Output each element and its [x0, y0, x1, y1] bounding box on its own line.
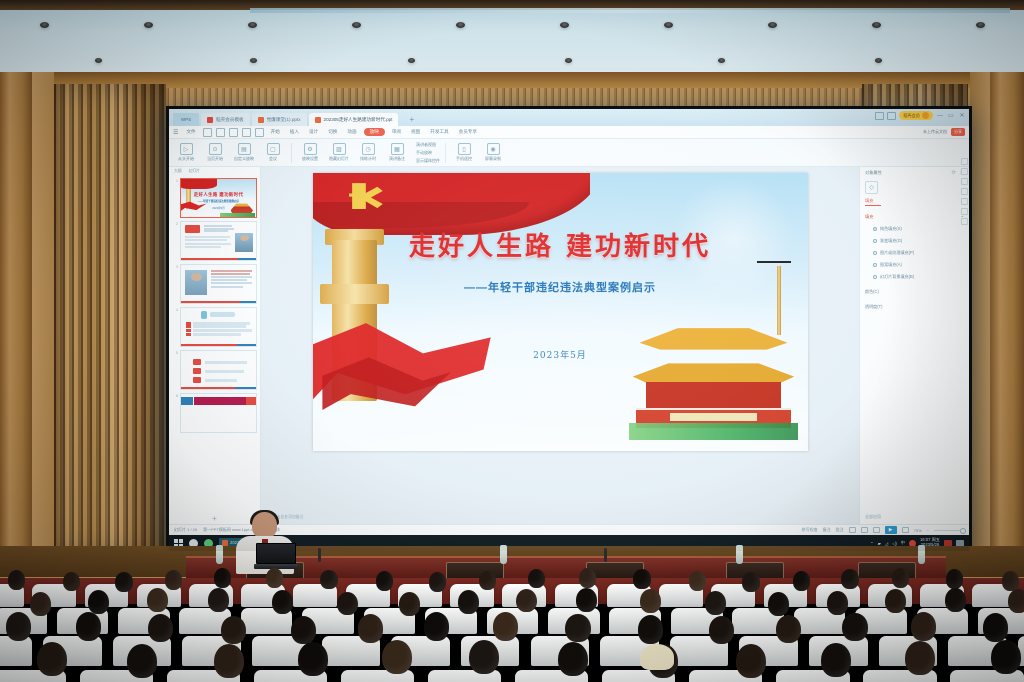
- minimize-button[interactable]: —: [936, 113, 944, 119]
- doc-tab-1[interactable]: 党廉课堂(1).pptx: [252, 113, 307, 126]
- audience-member: [742, 572, 759, 592]
- reading-view-icon[interactable]: [873, 527, 880, 533]
- tab-outline[interactable]: 大纲: [174, 169, 182, 174]
- workspace: 大纲 幻灯片 1走好人生路 建功新时代——年轻干部违纪违法典型案例启示2023年…: [169, 167, 969, 524]
- audience-member: [885, 589, 906, 613]
- ribbon-button-label: 手机遥控: [456, 156, 472, 162]
- slide-sorter-icon[interactable]: [861, 527, 868, 533]
- rail-icon-more[interactable]: [961, 218, 968, 225]
- play-from-start-icon: ▷: [180, 143, 193, 155]
- projection-screen: WPS 稻壳会员模板 党廉课堂(1).pptx 202305走好人生路建功新时代…: [166, 106, 972, 554]
- audience-member: [709, 616, 734, 645]
- zoom-slider[interactable]: [934, 530, 964, 531]
- audience-member: [115, 572, 132, 592]
- slide-editing-area[interactable]: 走好人生路 建功新时代 ——年轻干部违纪违法典型案例启示 2023年5月 单击此…: [261, 167, 859, 524]
- wall-pilaster-left-inner: [32, 72, 54, 572]
- fill-option-label: 图片或纹理填充(P): [880, 250, 914, 256]
- ribbon-tab-1[interactable]: 插入: [287, 128, 302, 136]
- ribbon-button-label: 从头开始: [178, 156, 194, 162]
- ceiling-downlight: [976, 22, 985, 28]
- zoom-level[interactable]: 79%: [914, 528, 922, 533]
- slide-thumbnail-list[interactable]: 1走好人生路 建功新时代——年轻干部违纪违法典型案例启示2023年5月23456: [169, 176, 260, 513]
- custom-show-icon: ▤: [238, 143, 251, 155]
- audience-member: [76, 612, 101, 641]
- ribbon-tab-7[interactable]: 视图: [408, 128, 423, 136]
- laptop-screen: [256, 543, 296, 564]
- audience-member: [689, 571, 706, 591]
- ceiling-downlight: [872, 22, 881, 28]
- audience-member: [776, 615, 801, 644]
- audience-member: [841, 569, 858, 589]
- radio-icon: [873, 251, 877, 255]
- ppt-icon: [258, 117, 264, 123]
- audience-member: [821, 643, 851, 677]
- speaker-notes-icon: ▦: [391, 143, 404, 155]
- doc-tab-2[interactable]: 202305走好人生路建功新时代.ppt: [309, 113, 399, 126]
- radio-icon: [873, 275, 877, 279]
- audience-member: [272, 590, 293, 614]
- slide-thumbnail-number: 6: [172, 393, 178, 398]
- wps-doc-icon: [207, 117, 213, 123]
- rail-icon-image[interactable]: [961, 178, 968, 185]
- ceiling-downlight: [664, 22, 673, 28]
- network-icon[interactable]: ◿: [885, 541, 888, 546]
- ribbon-button-0[interactable]: ▷ 从头开始: [173, 143, 199, 162]
- audience-member: [320, 570, 337, 590]
- wall-pilaster-right-inner: [970, 72, 990, 572]
- redo-icon[interactable]: [255, 128, 264, 137]
- comments-button[interactable]: 批注: [836, 527, 844, 533]
- audience-member: [793, 571, 810, 591]
- ribbon-button-6[interactable]: ◷ 排练计时: [355, 143, 381, 162]
- audience-member: [911, 612, 936, 641]
- ribbon-tab-0[interactable]: 开始: [268, 128, 283, 136]
- audience-member: [214, 644, 244, 678]
- audience-member: [424, 612, 449, 641]
- audience-member: [945, 588, 966, 612]
- audience-member: [705, 591, 726, 615]
- close-button[interactable]: ✕: [958, 112, 966, 119]
- ribbon-tab-bar: ☰ 文件 开始 插入 设计 切换 动画 放映 审阅 视图 开发工具 会: [169, 126, 969, 139]
- doc-tab-label: 党廉课堂(1).pptx: [267, 117, 301, 123]
- ceiling-downlight: [560, 22, 569, 28]
- fill-option-0[interactable]: 纯色填充(S): [865, 226, 964, 232]
- doc-tab-label: 202305走好人生路建功新时代.ppt: [324, 117, 393, 123]
- file-menu[interactable]: 文件: [183, 128, 198, 136]
- ceiling-downlight: [144, 22, 153, 28]
- radio-icon: [873, 227, 877, 231]
- audience-member: [88, 590, 109, 614]
- slide-thumbnail-number: 4: [172, 307, 178, 312]
- audience-member: [469, 640, 499, 674]
- ribbon-button-label: 会议: [269, 156, 277, 162]
- layout-toggle-icon[interactable]: [875, 112, 884, 120]
- audience-member: [165, 570, 182, 590]
- fill-option-label: 纯色填充(S): [880, 226, 902, 232]
- slide-thumbnail-preview[interactable]: 走好人生路 建功新时代——年轻干部违纪违法典型案例启示2023年5月: [180, 178, 257, 218]
- refresh-icon[interactable]: ⟳: [952, 170, 956, 176]
- ribbon-tab-3[interactable]: 切换: [325, 128, 340, 136]
- color-row[interactable]: 颜色(C): [865, 289, 964, 295]
- ribbon-check-group: 演讲者视图 手动放映 显示媒体控件: [416, 142, 440, 164]
- normal-view-icon[interactable]: [849, 527, 856, 533]
- audience-member: [214, 568, 231, 588]
- ceiling-downlight: [40, 22, 49, 28]
- notes-button[interactable]: 备注: [823, 527, 831, 533]
- audience-member: [221, 616, 246, 645]
- fill-section-label: 填充: [865, 214, 873, 220]
- audience-member: [842, 613, 867, 642]
- audience-member: [736, 644, 766, 678]
- audience-member: [37, 642, 67, 676]
- ribbon-toolbar: ▷ 从头开始 ⊙ 当页开始 ▤ 自定义放映 ▢ 会议: [169, 139, 969, 167]
- menu-hamburger-icon[interactable]: ☰: [173, 129, 178, 136]
- fill-option-4[interactable]: 幻灯片背景填充(B): [865, 274, 964, 280]
- play-current-icon: ⊙: [209, 143, 222, 155]
- wall-pilaster-right: [990, 72, 1024, 572]
- ceiling-downlight: [875, 58, 882, 63]
- ceiling-downlight: [456, 22, 465, 28]
- ribbon-separator: [291, 143, 292, 163]
- ribbon-tab-6[interactable]: 审阅: [389, 128, 404, 136]
- current-slide[interactable]: 走好人生路 建功新时代 ——年轻干部违纪违法典型案例启示 2023年5月: [313, 173, 808, 451]
- slide-thumbnail-preview[interactable]: [180, 350, 257, 390]
- ribbon-button-screen-record[interactable]: ◉ 屏幕录制: [480, 143, 506, 162]
- audience-member: [1002, 571, 1019, 591]
- slide-thumbnail-preview[interactable]: [180, 221, 257, 261]
- ribbon-button-4[interactable]: ⚙ 放映设置: [297, 143, 323, 162]
- tray-chevron-icon[interactable]: ⌃: [870, 541, 874, 546]
- projected-image: WPS 稻壳会员模板 党廉课堂(1).pptx 202305走好人生路建功新时代…: [169, 109, 969, 551]
- radio-icon: [873, 263, 877, 267]
- ribbon-button-2[interactable]: ▤ 自定义放映: [231, 143, 257, 162]
- ribbon-tab-8[interactable]: 开发工具: [427, 128, 451, 136]
- ribbon-button-label: 演讲备注: [389, 156, 405, 162]
- wps-logo: WPS: [173, 113, 199, 126]
- ppt-icon: [315, 117, 321, 123]
- ceiling-downlight: [95, 58, 102, 63]
- audience-member: [827, 591, 848, 615]
- grid-view-icon[interactable]: [887, 112, 896, 120]
- audience-member: [8, 570, 25, 590]
- show-settings-icon: ⚙: [304, 143, 317, 155]
- gate-lower-roof: [633, 359, 795, 384]
- audience-member: [266, 568, 283, 588]
- gate-upper-roof: [639, 325, 787, 350]
- fill-tab[interactable]: 填充: [865, 198, 881, 206]
- audience-member: [63, 572, 80, 592]
- print-icon[interactable]: [216, 128, 225, 137]
- audience-member: [516, 589, 537, 613]
- rail-icon-chart[interactable]: [961, 168, 968, 175]
- slide-thumbnail-number: 5: [172, 350, 178, 355]
- fit-to-window-icon[interactable]: [902, 527, 909, 533]
- gate-banner: [670, 413, 758, 420]
- slide-thumbnail-preview[interactable]: [180, 307, 257, 347]
- audience-member: [30, 592, 51, 616]
- cloud-status[interactable]: 未上传云文档: [923, 129, 947, 135]
- audience-member: [208, 588, 229, 612]
- notes-placeholder[interactable]: 单击此处添加备注: [273, 515, 847, 520]
- audience-member: [479, 571, 496, 591]
- audience-member: [579, 568, 596, 588]
- export-pdf-icon[interactable]: [229, 128, 238, 137]
- ceiling-downlight: [408, 58, 415, 63]
- undo-icon[interactable]: [242, 128, 251, 137]
- audience-seating: [0, 562, 1024, 682]
- audience-member: [148, 614, 173, 643]
- audience-member: [358, 614, 383, 643]
- ribbon-check-2[interactable]: 显示媒体控件: [416, 158, 440, 164]
- fill-tool-icon[interactable]: ◇: [865, 181, 878, 194]
- window-titlebar: WPS 稻壳会员模板 党廉课堂(1).pptx 202305走好人生路建功新时代…: [169, 109, 969, 126]
- audience-member: [991, 640, 1021, 674]
- audience-member: [6, 612, 31, 641]
- new-tab-button[interactable]: +: [404, 113, 419, 126]
- audience-member: [576, 588, 597, 612]
- wall-pilaster-left: [0, 72, 32, 572]
- audience-member: [565, 614, 590, 643]
- audience-member: [337, 592, 358, 616]
- rehearse-timing-icon: ◷: [362, 143, 375, 155]
- properties-header: 对象属性 ⟳ ✕: [865, 170, 964, 176]
- ceiling-downlight: [352, 22, 361, 28]
- zoom-out-button[interactable]: −: [927, 528, 929, 533]
- slide-thumbnail-item[interactable]: 6: [172, 393, 257, 433]
- member-label: 稻壳会员: [903, 113, 920, 119]
- hide-slide-icon: ▨: [333, 143, 346, 155]
- ribbon-tab-4[interactable]: 动画: [344, 128, 359, 136]
- ceiling-downlight: [718, 58, 725, 63]
- rail-icon-text[interactable]: [961, 188, 968, 195]
- folder-icon[interactable]: ▰: [878, 541, 881, 546]
- ribbon-button-7[interactable]: ▦ 演讲备注: [384, 143, 410, 162]
- slide-title: 走好人生路 建功新时代: [313, 226, 808, 263]
- slide-date: 2023年5月: [313, 348, 808, 361]
- slide-thumbnail-number: 2: [172, 221, 178, 226]
- slide-subtitle: ——年轻干部违纪违法典型案例启示: [313, 279, 808, 295]
- gate-foreground-grass: [629, 423, 797, 440]
- ribbon-button-1[interactable]: ⊙ 当页开始: [202, 143, 228, 162]
- slide-thumbnail-item[interactable]: 2: [172, 221, 257, 261]
- ribbon-tab-2[interactable]: 设计: [306, 128, 321, 136]
- ribbon-tab-5[interactable]: 放映: [364, 128, 385, 136]
- ribbon-button-label: 放映设置: [302, 156, 318, 162]
- fill-option-label: 幻灯片背景填充(B): [880, 274, 914, 280]
- ceiling-light-strip: [250, 8, 1010, 13]
- slide-thumbnail-item[interactable]: 4: [172, 307, 257, 347]
- fill-option-3[interactable]: 图案填充(A): [865, 262, 964, 268]
- screen-record-icon: ◉: [487, 143, 500, 155]
- audience-member: [528, 569, 545, 589]
- object-properties-panel[interactable]: 对象属性 ⟳ ✕ ◇ 填充 填充 ⌃: [859, 167, 969, 524]
- ribbon-tab-9[interactable]: 会员专享: [456, 128, 480, 136]
- slide-thumbnail-number: 1: [172, 178, 178, 183]
- doc-tab-0[interactable]: 稻壳会员模板: [201, 113, 250, 126]
- meeting-icon: ▢: [267, 143, 280, 155]
- flagpole: [777, 266, 781, 335]
- rail-icon-align[interactable]: [961, 198, 968, 205]
- presenter-head: [252, 512, 277, 539]
- tiananmen-gate-icon: [629, 318, 797, 441]
- ceiling-downlight: [565, 58, 572, 63]
- slide-thumbnail-number: 3: [172, 264, 178, 269]
- rail-icon-animation[interactable]: [961, 208, 968, 215]
- audience-member: [633, 569, 650, 589]
- slide-pane-tabs: 大纲 幻灯片: [169, 167, 260, 176]
- slide-thumbnail-item[interactable]: 3: [172, 264, 257, 304]
- audience-member: [298, 642, 328, 676]
- audience-member: [558, 642, 588, 676]
- audience-member: [905, 641, 935, 675]
- fill-option-2[interactable]: 图片或纹理填充(P): [865, 250, 964, 256]
- ribbon-button-label: 当页开始: [207, 156, 223, 162]
- wood-curtain-left: [54, 84, 166, 554]
- audience-member: [768, 592, 789, 616]
- audience-member: [640, 589, 661, 613]
- ribbon-right-controls: 未上传云文档 分享: [923, 128, 965, 136]
- ribbon-button-label: 排练计时: [360, 156, 376, 162]
- audience-member: [946, 569, 963, 589]
- rail-icon-shapes[interactable]: [961, 158, 968, 165]
- audience-member: [493, 612, 518, 641]
- wps-presentation-window: WPS 稻壳会员模板 党廉课堂(1).pptx 202305走好人生路建功新时代…: [169, 109, 969, 551]
- ribbon-button-5[interactable]: ▨ 隐藏幻灯片: [326, 143, 352, 162]
- fill-option-label: 渐变填充(G): [880, 238, 902, 244]
- audience-member: [892, 568, 909, 588]
- radio-icon: [873, 239, 877, 243]
- properties-title: 对象属性: [865, 170, 882, 176]
- audience-member: [382, 640, 412, 674]
- ribbon-button-3[interactable]: ▢ 会议: [260, 143, 286, 162]
- ceiling-downlight: [248, 22, 257, 28]
- audience-member: [127, 644, 157, 678]
- doc-tab-label: 稻壳会员模板: [216, 117, 244, 123]
- ribbon-button-phone-remote[interactable]: ▯ 手机遥控: [451, 143, 477, 162]
- ceiling-downlight: [250, 58, 257, 63]
- ribbon-separator: [445, 143, 446, 163]
- slide-thumbnail-preview[interactable]: [180, 393, 257, 433]
- slide-counter: 幻灯片 1 / 26: [174, 527, 197, 533]
- titlebar-controls: 稻壳会员 — ▭ ✕: [875, 111, 966, 120]
- audience-member: [983, 613, 1008, 642]
- audience-member: [429, 572, 446, 592]
- microphone: [318, 548, 321, 562]
- fill-option-label: 图案填充(A): [880, 262, 902, 268]
- phone-remote-icon: ▯: [458, 143, 471, 155]
- volume-icon[interactable]: ◁): [892, 541, 897, 546]
- avatar: [922, 112, 929, 119]
- slide-thumbnail-preview[interactable]: [180, 264, 257, 304]
- slide-thumbnail-item[interactable]: 5: [172, 350, 257, 390]
- audience-member: [376, 571, 393, 591]
- microphone: [604, 548, 607, 562]
- audience-member: [458, 590, 479, 614]
- ribbon-button-label: 隐藏幻灯片: [329, 156, 349, 162]
- spellcheck-button[interactable]: 拼写检查: [802, 527, 818, 533]
- transparency-row[interactable]: 透明度(T): [865, 304, 964, 310]
- lecture-hall-photo: WPS 稻壳会员模板 党廉课堂(1).pptx 202305走好人生路建功新时代…: [0, 0, 1024, 682]
- member-badge[interactable]: 稻壳会员: [899, 111, 933, 120]
- audience-member: [291, 616, 316, 645]
- ribbon-check-0[interactable]: 演讲者视图: [416, 142, 440, 148]
- tab-slides[interactable]: 幻灯片: [189, 169, 200, 174]
- status-bar-right: 拼写检查 备注 批注 ▶ 79% −: [802, 526, 964, 534]
- ribbon-button-label: 屏幕录制: [485, 156, 501, 162]
- slide-thumbnail-pane[interactable]: 大纲 幻灯片 1走好人生路 建功新时代——年轻干部违纪违法典型案例启示2023年…: [169, 167, 261, 524]
- ceiling-downlight: [768, 22, 777, 28]
- apply-all-button[interactable]: 全部应用: [865, 514, 881, 520]
- ribbon-check-1[interactable]: 手动放映: [416, 150, 440, 156]
- ceiling: [0, 0, 1024, 78]
- audience-member: [1008, 589, 1024, 613]
- right-icon-rail[interactable]: [960, 155, 969, 225]
- share-button[interactable]: 分享: [951, 128, 965, 136]
- audience-member-with-cap: [640, 644, 674, 670]
- fill-option-1[interactable]: 渐变填充(G): [865, 238, 964, 244]
- restore-button[interactable]: ▭: [947, 112, 955, 119]
- audience-member: [399, 592, 420, 616]
- audience-member: [147, 588, 168, 612]
- ribbon-button-label: 自定义放映: [234, 156, 254, 162]
- fill-section-header[interactable]: 填充 ⌃: [865, 214, 964, 220]
- audience-member: [638, 615, 663, 644]
- play-icon[interactable]: ▶: [885, 526, 897, 534]
- save-icon[interactable]: [203, 128, 212, 137]
- slide-thumbnail-item[interactable]: 1走好人生路 建功新时代——年轻干部违纪违法典型案例启示2023年5月: [172, 178, 257, 218]
